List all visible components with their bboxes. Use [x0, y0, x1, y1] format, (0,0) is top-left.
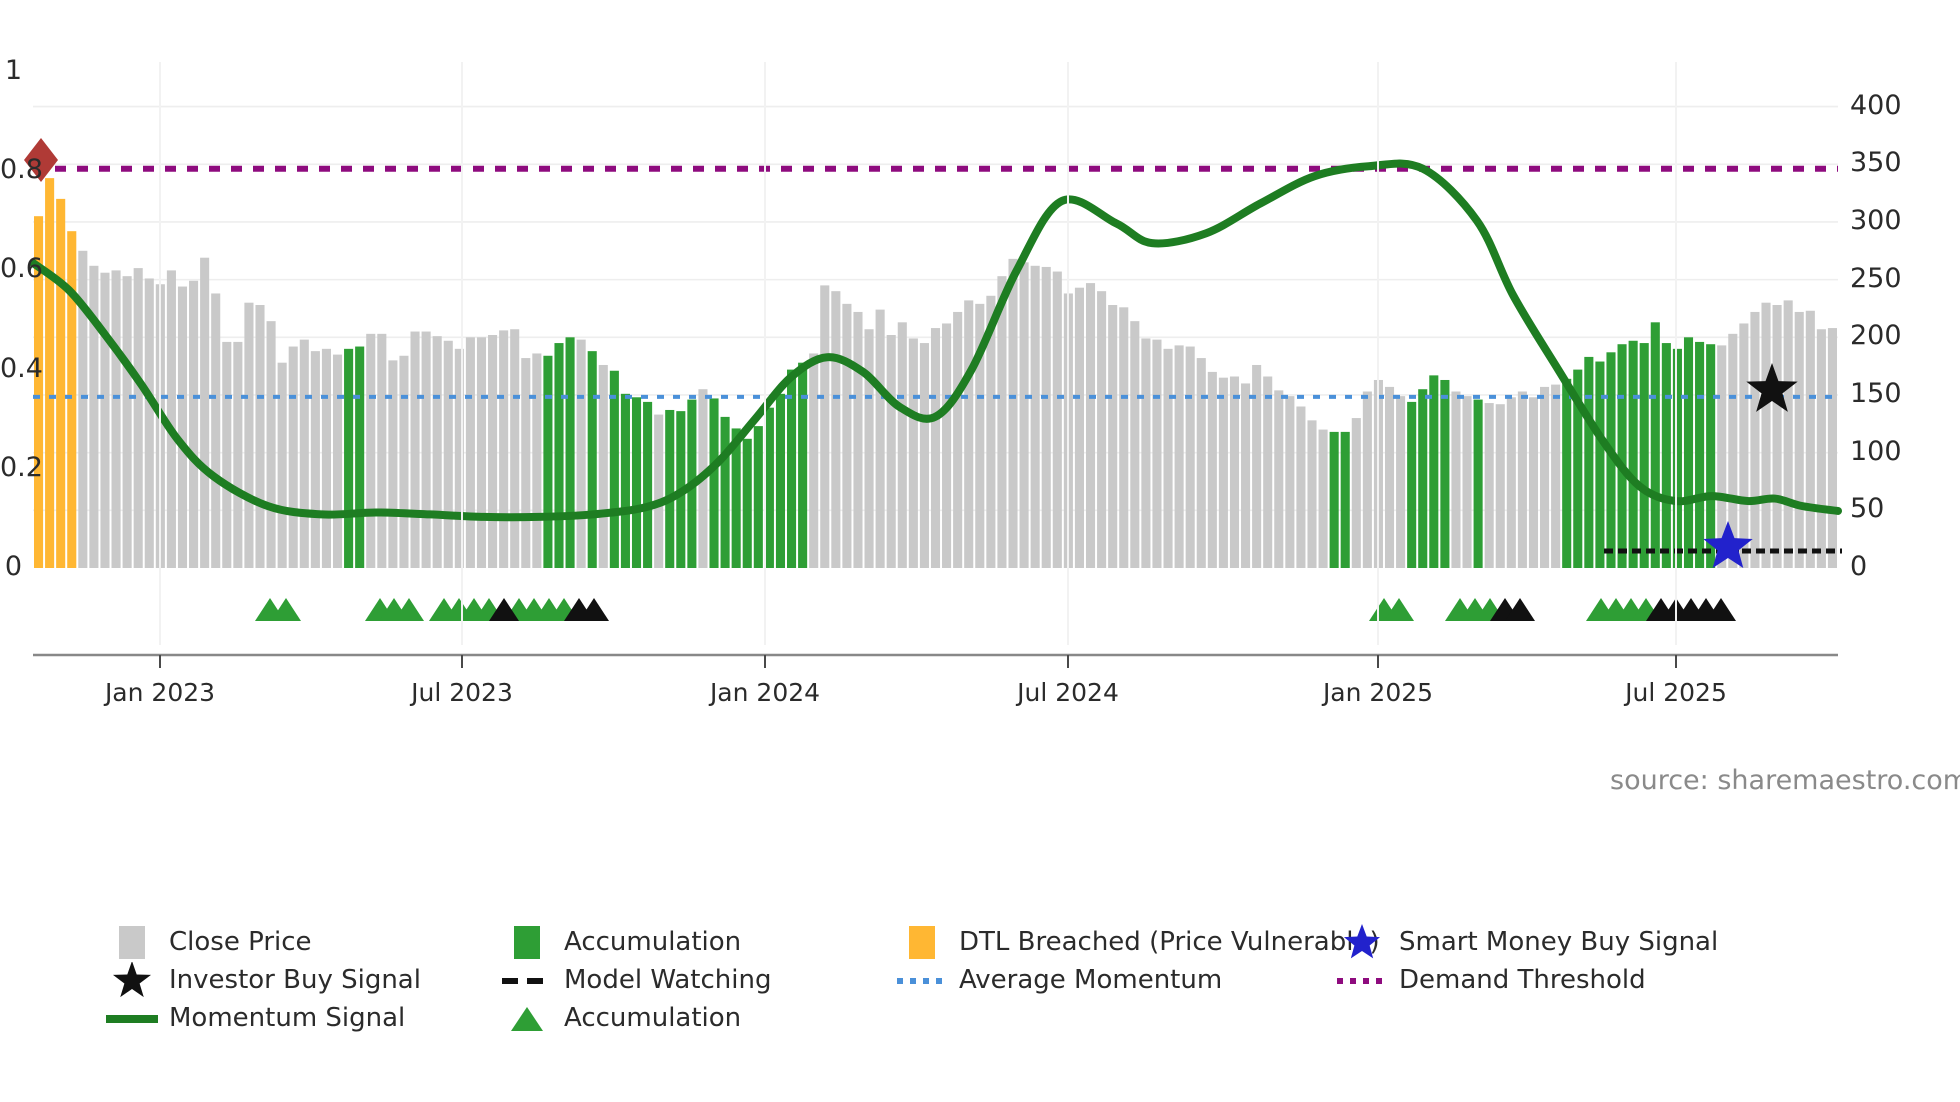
close-price-bar [876, 310, 885, 568]
close-price-swatch-icon [105, 925, 159, 959]
close-price-bar [920, 343, 929, 568]
close-price-bar [521, 358, 530, 568]
accumulation-bar [1706, 344, 1715, 568]
y-axis-left-tick-label: 0 [0, 551, 22, 582]
accumulation-bar [632, 397, 641, 568]
close-price-bar [1263, 377, 1272, 568]
demand-threshold-line-icon [1335, 963, 1389, 997]
close-price-bar [1507, 397, 1516, 568]
accumulation-bar [344, 349, 353, 568]
x-axis-tick-label: Jul 2023 [352, 678, 572, 707]
close-price-bar [1817, 329, 1826, 568]
accumulation-bar [554, 343, 563, 568]
x-axis-ticks [160, 62, 1676, 668]
close-price-bar [1219, 378, 1228, 568]
close-price-bar [997, 276, 1006, 568]
close-price-bar [964, 300, 973, 568]
close-price-bar [898, 322, 907, 568]
legend-row: Close PriceAccumulationDTL Breached (Pri… [105, 925, 1935, 963]
accumulation-bar [588, 351, 597, 568]
close-price-bar [1152, 340, 1161, 568]
close-price-bar [1319, 430, 1328, 568]
legend-item-label: Smart Money Buy Signal [1399, 927, 1718, 957]
accumulation-bar [1640, 343, 1649, 568]
close-price-bar [134, 268, 143, 568]
accumulation-bar [776, 394, 785, 568]
close-price-bar [1451, 392, 1460, 568]
close-price-bar [377, 334, 386, 568]
accumulation-bar [754, 426, 763, 568]
y-axis-left-tick-label: 0.4 [0, 353, 22, 384]
close-price-bar [1130, 321, 1139, 568]
close-price-bar [1518, 392, 1527, 568]
close-price-bar [1042, 267, 1051, 568]
x-axis-tick-label: Jan 2023 [50, 678, 270, 707]
legend-item[interactable]: Accumulation [500, 1001, 895, 1035]
close-price-bar [1086, 283, 1095, 568]
close-price-bar [1773, 305, 1782, 568]
y-axis-right-tick-label: 50 [1850, 493, 1884, 524]
y-axis-right-tick-label: 100 [1850, 436, 1902, 467]
close-price-bar [477, 337, 486, 568]
accumulation-bar [610, 371, 619, 568]
close-price-bar [178, 287, 187, 568]
accumulation-bar [1584, 357, 1593, 568]
legend-item-label: Investor Buy Signal [169, 965, 421, 995]
close-price-bar [953, 312, 962, 568]
close-price-bar [145, 278, 154, 568]
close-price-bar [510, 329, 519, 568]
accumulation-bar [1695, 342, 1704, 568]
close-price-bar [1175, 345, 1184, 568]
close-price-bar [809, 353, 818, 568]
x-axis-tick-label: Jan 2024 [655, 678, 875, 707]
close-price-bar [532, 353, 541, 568]
close-price-bar [388, 360, 397, 568]
legend-item-label: DTL Breached (Price Vulnerable) [959, 927, 1380, 957]
close-price-bar [1485, 403, 1494, 568]
close-price-bar [887, 335, 896, 568]
chart-legend: Close PriceAccumulationDTL Breached (Pri… [105, 925, 1935, 1039]
y-axis-left-tick-label: 0.6 [0, 253, 22, 284]
close-price-bar [577, 340, 586, 568]
close-price-bar [255, 305, 264, 568]
close-price-bar [1141, 338, 1150, 568]
close-price-bar [433, 336, 442, 568]
close-price-bar [1186, 347, 1195, 568]
close-price-bar [1739, 323, 1748, 568]
accumulation-bar [1330, 432, 1339, 568]
close-price-bar [1241, 383, 1250, 568]
close-price-bar [399, 356, 408, 568]
legend-item[interactable]: Investor Buy Signal [105, 963, 500, 997]
accumulation-bar [1651, 322, 1660, 568]
close-price-bar [599, 365, 608, 568]
accumulation-bar [1562, 379, 1571, 568]
close-price-bar [1352, 418, 1361, 568]
close-price-bar [1750, 312, 1759, 568]
accumulation-bar-swatch-icon [500, 925, 554, 959]
close-price-bar [488, 335, 497, 568]
x-axis-tick-label: Jul 2024 [958, 678, 1178, 707]
accumulation-bar [621, 394, 630, 568]
accumulation-triangles-layer [255, 598, 1736, 621]
legend-item-label: Close Price [169, 927, 312, 957]
momentum-signal-line-icon [105, 1001, 159, 1035]
close-price-bar [1053, 272, 1062, 568]
legend-item[interactable]: Average Momentum [895, 963, 1335, 997]
legend-item[interactable]: Close Price [105, 925, 500, 959]
close-price-bar [1385, 387, 1394, 568]
close-price-bar [1285, 396, 1294, 568]
close-price-bar [366, 334, 375, 568]
accumulation-bar [543, 356, 552, 568]
close-price-bar [211, 293, 220, 568]
close-price-bar [1828, 328, 1837, 568]
accumulation-bar [798, 363, 807, 568]
close-price-bar [1097, 291, 1106, 568]
close-price-bar [444, 341, 453, 568]
y-axis-right-tick-label: 0 [1850, 551, 1867, 582]
accumulation-bar [1341, 432, 1350, 568]
legend-row: Investor Buy SignalModel WatchingAverage… [105, 963, 1935, 1001]
close-price-bar [123, 276, 132, 568]
close-price-bar [411, 332, 420, 568]
close-price-bar [865, 329, 874, 568]
close-price-bar [1008, 259, 1017, 568]
y-axis-right-tick-label: 200 [1850, 320, 1902, 351]
source-attribution: source: sharemaestro.com [1610, 765, 1960, 796]
accumulation-bar [709, 398, 718, 568]
accumulation-bar [1429, 375, 1438, 568]
close-price-bar [233, 342, 242, 568]
legend-item[interactable]: Model Watching [500, 963, 895, 997]
close-price-bar [289, 347, 298, 568]
close-price-bar [931, 328, 940, 568]
accumulation-bar [1629, 341, 1638, 568]
y-axis-right-tick-label: 250 [1850, 263, 1902, 294]
close-price-bar [654, 415, 663, 568]
close-price-bar [278, 363, 287, 568]
close-price-bar [189, 281, 198, 568]
legend-item[interactable]: Accumulation [500, 925, 895, 959]
y-axis-left-tick-label: 0.2 [0, 452, 22, 483]
close-price-bar [1496, 404, 1505, 568]
accumulation-bar [721, 417, 730, 568]
legend-item[interactable]: Momentum Signal [105, 1001, 500, 1035]
y-axis-right-tick-label: 400 [1850, 90, 1902, 121]
investor-buy-star-icon [105, 963, 159, 997]
dtl-breached-swatch-icon [895, 925, 949, 959]
legend-item-label: Average Momentum [959, 965, 1222, 995]
y-axis-right-tick-label: 150 [1850, 378, 1902, 409]
close-price-bar [1761, 303, 1770, 568]
close-price-bar [909, 338, 918, 568]
model-watching-line-icon [500, 963, 554, 997]
legend-item-label: Accumulation [564, 1003, 741, 1033]
close-price-bar [831, 291, 840, 568]
dtl-breached-bar [67, 231, 76, 568]
close-price-bar [1020, 262, 1029, 568]
accumulation-bar [355, 347, 364, 568]
close-price-bar [466, 337, 475, 568]
accumulation-bar [765, 408, 774, 568]
close-price-bar [1296, 407, 1305, 568]
close-price-bar [267, 321, 276, 568]
close-price-bar [1108, 305, 1117, 568]
close-price-bar [422, 332, 431, 568]
close-price-bar [1396, 396, 1405, 568]
close-price-bar [322, 349, 331, 568]
accumulation-bar [1662, 343, 1671, 568]
close-price-bar [1784, 300, 1793, 568]
close-price-bar [499, 330, 508, 568]
average-momentum-line-icon [895, 963, 949, 997]
dtl-breached-bar [56, 199, 65, 568]
x-axis-tick-label: Jul 2025 [1566, 678, 1786, 707]
close-price-bar [333, 355, 342, 568]
accumulation-bar [787, 370, 796, 568]
close-price-bar [222, 342, 231, 568]
close-price-bar [1540, 387, 1549, 568]
close-price-bar [244, 303, 253, 568]
dtl-breached-bar [45, 178, 54, 568]
legend-item-label: Demand Threshold [1399, 965, 1646, 995]
accumulation-bar [1440, 380, 1449, 568]
accumulation-bar [1407, 402, 1416, 568]
close-price-bar [1274, 390, 1283, 568]
close-price-bar [820, 285, 829, 568]
close-price-bar [1164, 349, 1173, 568]
close-price-bar [1551, 385, 1560, 568]
legend-row: Momentum SignalAccumulation [105, 1001, 1935, 1039]
close-price-bar [1197, 358, 1206, 568]
close-price-bar [1462, 396, 1471, 568]
y-axis-right-tick-label: 300 [1850, 205, 1902, 236]
y-axis-left-tick-label: 0.8 [0, 154, 22, 185]
legend-item[interactable]: DTL Breached (Price Vulnerable) [895, 925, 1335, 959]
accumulation-triangle-icon [500, 1001, 554, 1035]
close-price-bar [1806, 311, 1815, 568]
close-price-bar [1208, 372, 1217, 568]
x-axis-tick-label: Jan 2025 [1268, 678, 1488, 707]
close-price-bar [1795, 312, 1804, 568]
legend-item[interactable]: Smart Money Buy Signal [1335, 925, 1735, 959]
close-price-bar [1075, 288, 1084, 568]
accumulation-bar [1418, 389, 1427, 568]
close-price-bar [1119, 307, 1128, 568]
close-price-bar [300, 340, 309, 568]
accumulation-bar [1618, 344, 1627, 568]
legend-item-label: Accumulation [564, 927, 741, 957]
accumulation-bar [1673, 349, 1682, 568]
legend-item[interactable]: Demand Threshold [1335, 963, 1735, 997]
legend-item-label: Model Watching [564, 965, 771, 995]
close-price-bar [1031, 266, 1040, 568]
accumulation-bar [743, 439, 752, 568]
close-price-bar [311, 351, 320, 568]
close-price-bar [853, 312, 862, 568]
accumulation-bar [1684, 337, 1693, 568]
close-price-bar [1230, 377, 1239, 568]
close-price-bar [112, 270, 121, 568]
accumulation-bar [643, 402, 652, 568]
close-price-bar [1363, 392, 1372, 568]
close-price-bar [942, 323, 951, 568]
accumulation-bar [566, 337, 575, 568]
close-price-bar [1307, 420, 1316, 568]
smart-money-star-icon [1335, 925, 1389, 959]
legend-item-label: Momentum Signal [169, 1003, 405, 1033]
close-price-bar [100, 273, 109, 568]
close-price-bar [842, 304, 851, 568]
close-price-bar [1529, 397, 1538, 568]
y-axis-left-tick-label: 1 [0, 55, 22, 86]
close-price-bar [200, 258, 209, 568]
accumulation-bar [665, 410, 674, 568]
accumulation-bar [1595, 362, 1604, 568]
accumulation-bar [1474, 400, 1483, 568]
y-axis-right-tick-label: 350 [1850, 147, 1902, 178]
